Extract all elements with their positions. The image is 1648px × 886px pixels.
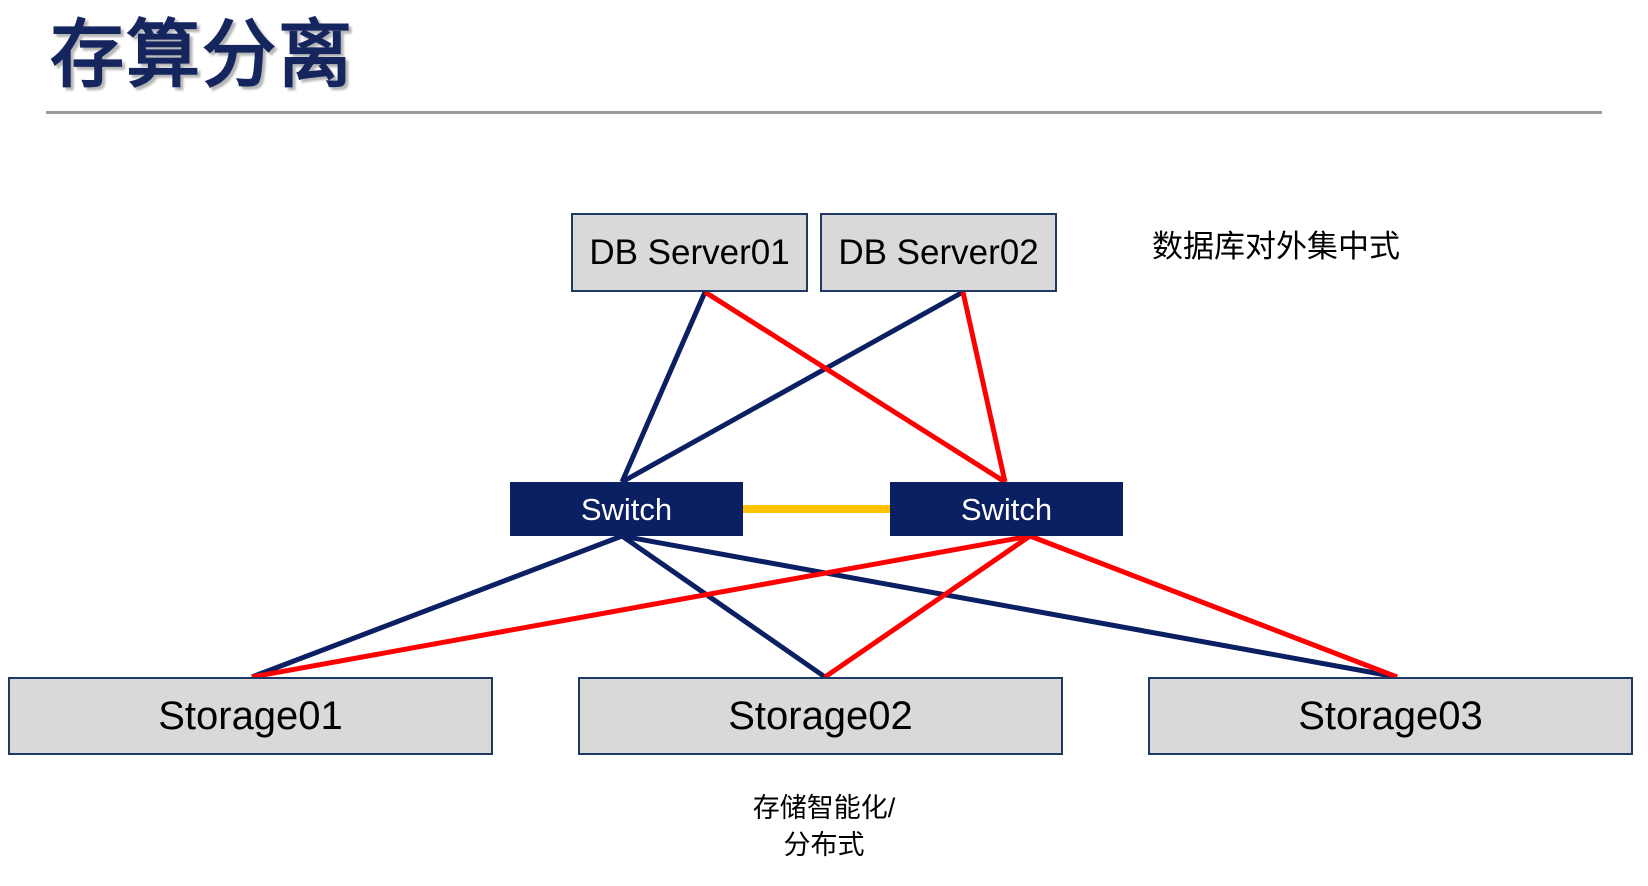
annotation-storage-line-2: 分布式 bbox=[0, 827, 1648, 864]
link-switch-right-storage03 bbox=[1030, 536, 1397, 677]
node-switch-left[interactable]: Switch bbox=[510, 482, 743, 536]
link-dbserver01-switch-right bbox=[705, 292, 1005, 482]
node-label: Storage02 bbox=[728, 696, 913, 736]
network-topology-diagram: DB Server01 DB Server02 Switch Switch St… bbox=[0, 0, 1648, 886]
node-db-server-02[interactable]: DB Server02 bbox=[820, 213, 1057, 292]
link-dbserver01-switch-left bbox=[622, 292, 705, 482]
node-label: Switch bbox=[581, 494, 672, 525]
node-label: DB Server02 bbox=[838, 235, 1038, 270]
node-label: DB Server01 bbox=[589, 235, 789, 270]
node-switch-right[interactable]: Switch bbox=[890, 482, 1123, 536]
link-switch-right-storage02 bbox=[825, 536, 1030, 677]
link-dbserver02-switch-left bbox=[622, 292, 963, 482]
link-dbserver02-switch-right bbox=[963, 292, 1005, 482]
annotation-database-tier: 数据库对外集中式 bbox=[1152, 226, 1400, 268]
node-label: Storage01 bbox=[158, 696, 343, 736]
link-switch-left-storage03 bbox=[622, 536, 1397, 677]
annotation-storage-tier: 存储智能化/ 分布式 bbox=[0, 790, 1648, 864]
link-switch-left-storage01 bbox=[252, 536, 622, 677]
link-switch-left-storage02 bbox=[622, 536, 825, 677]
node-storage-03[interactable]: Storage03 bbox=[1148, 677, 1633, 755]
annotation-storage-line-1: 存储智能化/ bbox=[0, 790, 1648, 827]
link-switch-right-storage01 bbox=[252, 536, 1030, 677]
node-storage-02[interactable]: Storage02 bbox=[578, 677, 1063, 755]
node-label: Storage03 bbox=[1298, 696, 1483, 736]
node-db-server-01[interactable]: DB Server01 bbox=[571, 213, 808, 292]
slide-canvas: 存算分离 DB Server01 DB Server0 bbox=[0, 0, 1648, 886]
node-storage-01[interactable]: Storage01 bbox=[8, 677, 493, 755]
node-label: Switch bbox=[961, 494, 1052, 525]
